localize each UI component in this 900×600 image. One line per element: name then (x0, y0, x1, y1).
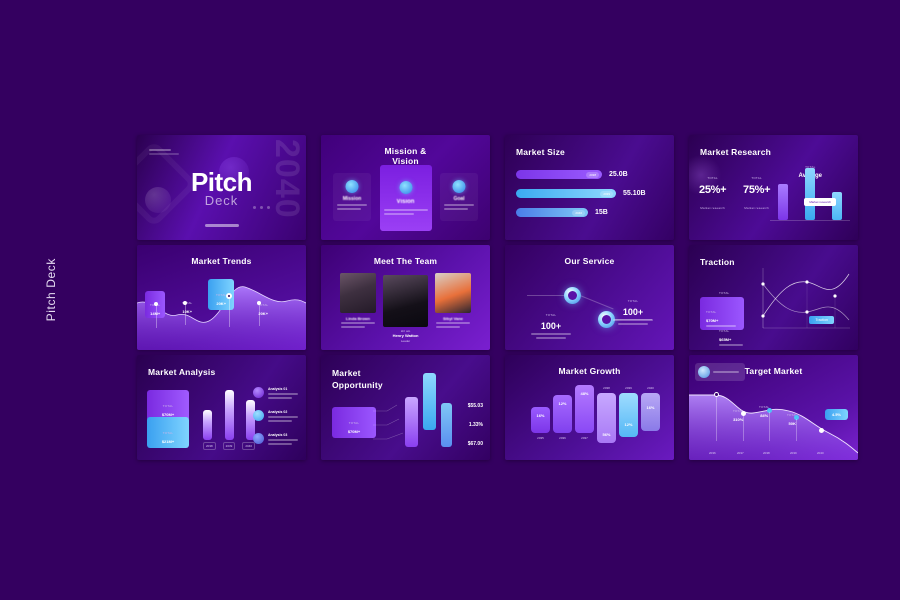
x-label: 2039 (223, 442, 236, 450)
data-point (183, 301, 187, 305)
item-title: Analysis 01 (268, 387, 298, 391)
slide-market-trends[interactable]: Market Trends TOTAL 14M+ TOTAL 10K+ TOTA… (137, 245, 306, 350)
bar-value: 12% (553, 401, 572, 406)
chip-caption: TOTAL (163, 431, 173, 435)
slide-title: Market Opportunity (332, 367, 383, 392)
bar-value: 12% (619, 422, 638, 427)
analysis-item[interactable]: Analysis 02 (253, 410, 298, 422)
stem (769, 412, 770, 441)
member-photo[interactable] (435, 273, 471, 313)
member-name: Linda Brown (333, 316, 383, 321)
traction-label: TOTAL $65M+ (719, 319, 743, 346)
chip-value: 10K+ (182, 309, 192, 314)
opportunity-chip: TOTAL $70M+ (332, 407, 376, 438)
card-desc (444, 204, 474, 210)
x-label: 2039 (619, 386, 638, 390)
label-caption: TOTAL (719, 329, 729, 333)
chart-tooltip: Market research (804, 198, 836, 206)
analysis-bar-chart (203, 385, 255, 440)
data-point (154, 302, 158, 306)
stat-caption: TOTAL (707, 176, 717, 180)
card-desc (384, 209, 428, 215)
card-label: Mission (333, 196, 371, 202)
cover-underline (205, 224, 239, 227)
slide-market-size[interactable]: Market Size 2038 25.0B 2039 55.10B 2040 … (505, 135, 674, 240)
growth-bar: 12% (553, 395, 572, 433)
progress-bar: 2038 (516, 170, 602, 179)
connector (527, 295, 567, 296)
trend-chip: TOTAL 10K+ (177, 289, 197, 316)
decor-dots (251, 196, 272, 214)
card-vision[interactable]: Vision (380, 165, 432, 231)
mission-icon (346, 180, 359, 193)
member-role (436, 322, 470, 328)
member-role (341, 322, 375, 328)
stem (743, 415, 744, 441)
label-caption: TOTAL (719, 291, 729, 295)
data-point (819, 428, 824, 433)
slide-title: Market Research (700, 147, 771, 157)
stem (796, 419, 797, 441)
slide-title: Market Trends (137, 256, 306, 266)
growth-bar: 12% (619, 393, 638, 437)
stem (716, 397, 717, 441)
data-point (257, 301, 261, 305)
bar-value: 16% (641, 405, 660, 410)
x-label: 2040 (817, 451, 824, 455)
stat-value: 100+ (613, 307, 653, 317)
cover-brand (149, 149, 179, 155)
leader-role: Leader (321, 339, 490, 343)
stat-value: 100+ (531, 321, 571, 331)
opportunity-values: $55.03 1.33% $67.00 (468, 403, 483, 460)
service-node[interactable] (564, 287, 581, 304)
slide-meet-the-team[interactable]: Meet The Team Linda Brown Sibyl Vane Hi … (321, 245, 490, 350)
chip-caption: TOTAL (349, 421, 359, 425)
card-mission[interactable]: Mission (333, 173, 371, 221)
stat-block: TOTAL 75%+ Market research (743, 166, 770, 214)
analysis-chip: TOTAL $21M+ (147, 417, 189, 448)
value-label: $55.03 (468, 403, 483, 409)
chart-tooltip: Traction (809, 316, 834, 324)
item-title: Analysis 03 (268, 433, 298, 437)
bar-value: 25.0B (609, 171, 628, 178)
stat-sub: Market research (700, 206, 725, 210)
stat-block: TOTAL 100+ (531, 303, 571, 339)
progress-bar: 2039 (516, 189, 616, 198)
leader-info: Hi I am Henry Watton Leader (321, 329, 490, 343)
x-label: 2040 (641, 386, 660, 390)
slide-market-research[interactable]: Market Research TOTAL 25%+ Market resear… (689, 135, 858, 240)
leader-photo[interactable] (383, 275, 428, 327)
vision-icon (399, 181, 412, 194)
stem (185, 303, 186, 325)
chip-value: 20K+ (216, 301, 226, 306)
stem (156, 304, 157, 328)
slide-title: Mission & Vision (321, 146, 490, 166)
item-bullet-icon (253, 410, 264, 421)
analysis-item[interactable]: Analysis 03 (253, 433, 298, 445)
bar-row: 2040 15B (516, 208, 608, 217)
bar-value: 56% (597, 432, 616, 437)
slide-title: Meet The Team (321, 256, 490, 266)
bar-pill: 2038 (586, 172, 599, 178)
stat-block: TOTAL 100+ (613, 289, 653, 325)
x-label: 2038 (203, 442, 216, 450)
stat-sub: Market research (744, 206, 769, 210)
title-line-1: Market (332, 368, 361, 378)
value-label: 1.33% (468, 422, 483, 428)
slide-pitch-deck-cover[interactable]: 2040 Pitch Deck (137, 135, 306, 240)
bar-value: 48% (575, 391, 594, 396)
opportunity-bar (405, 397, 418, 447)
card-label: Goal (440, 196, 478, 202)
x-label: 2039 (790, 451, 797, 455)
bar-value: 16% (531, 413, 550, 418)
card-desc (337, 204, 367, 210)
x-label: 2036 (709, 451, 716, 455)
slide-title: Traction (700, 257, 735, 267)
x-label: 2035 (531, 436, 550, 440)
item-bullet-icon (253, 387, 264, 398)
slide-title: Our Service (505, 256, 674, 266)
bar-value: 55.10B (623, 190, 646, 197)
target-chip: 4.5% (825, 409, 848, 420)
slide-market-analysis[interactable]: Market Analysis TOTAL $70M+ TOTAL $21M+ … (137, 355, 306, 460)
brand-line-1 (149, 149, 171, 151)
x-label: 2038 (763, 451, 770, 455)
chip-caption: TOTAL (163, 404, 173, 408)
goal-icon (453, 180, 466, 193)
growth-bar: 16% (531, 407, 550, 433)
stat-caption: TOTAL (628, 299, 638, 303)
label-value: $65M+ (719, 337, 743, 342)
card-label: Vision (380, 199, 432, 205)
slide-our-service[interactable]: Our Service TOTAL 100+ TOTAL 100+ (505, 245, 674, 350)
cover-subtitle: Deck (137, 193, 306, 208)
trend-chip: TOTAL 20K+ (253, 291, 273, 318)
avatar (698, 366, 710, 378)
opportunity-bar (441, 403, 452, 447)
bar-value: 15B (595, 209, 608, 216)
slide-market-growth[interactable]: Market Growth 16% 12% 48% 56% 12% 16% 20… (505, 355, 674, 460)
slide-market-opportunity[interactable]: Market Opportunity TOTAL $70M+ $55.03 1.… (321, 355, 490, 460)
progress-bar: 2040 (516, 208, 588, 217)
value-label: $67.00 (468, 441, 483, 447)
opportunity-bar (423, 373, 436, 430)
stat-value: 25%+ (699, 184, 726, 196)
growth-bar: 56% (597, 393, 616, 443)
chip-caption: TOTAL (216, 293, 226, 297)
target-top-chip[interactable] (695, 363, 745, 381)
photo-image (340, 273, 376, 313)
bar-row: 2039 55.10B (516, 189, 646, 198)
bar-axis-labels: 2038 2039 2040 (203, 442, 255, 450)
x-label: 2037 (737, 451, 744, 455)
chip-value: $70M+ (336, 429, 372, 434)
slide-title: Market Analysis (148, 367, 215, 377)
stat-value: 75%+ (743, 184, 770, 196)
title-line-1: Mission & (385, 146, 427, 156)
chart-axis (770, 220, 850, 221)
target-label: TOTAL 84% (759, 395, 769, 418)
photo-image (435, 273, 471, 313)
deck-side-label: Pitch Deck (44, 258, 58, 321)
analysis-item[interactable]: Analysis 01 (253, 387, 298, 399)
x-label: 2037 (575, 436, 594, 440)
chip-caption: TOTAL (706, 310, 716, 314)
title-line-2: Opportunity (332, 380, 383, 390)
slide-mission-vision[interactable]: Mission & Vision Mission Vision Goal (321, 135, 490, 240)
bar-row: 2038 25.0B (516, 170, 628, 179)
slide-traction[interactable]: Traction TOTAL $20M+ TOTAL $70M+ TOTAL $… (689, 245, 858, 350)
stat-block: TOTAL 25%+ Market research (699, 166, 726, 214)
stat-caption: TOTAL (751, 176, 761, 180)
slide-title: Market Growth (505, 366, 674, 376)
member-name: Sibyl Vane (428, 316, 478, 321)
card-goal[interactable]: Goal (440, 173, 478, 221)
photo-image (383, 275, 428, 327)
brand-line-2 (149, 153, 179, 155)
x-label: 2036 (553, 436, 572, 440)
slide-grid: 2040 Pitch Deck Mission & Vision Mission… (137, 135, 859, 460)
growth-bar: 48% (575, 385, 594, 433)
top-chip-label (713, 371, 739, 373)
stem (229, 297, 230, 327)
label-value: 84% (759, 413, 769, 418)
chip-value: $21M+ (151, 439, 185, 444)
growth-bar: 16% (641, 393, 660, 431)
label-value: 310% (733, 417, 743, 422)
research-bar-chart (770, 165, 850, 220)
traction-line-chart (755, 268, 850, 336)
item-title: Analysis 02 (268, 410, 298, 414)
bar-pill: 2040 (572, 210, 585, 216)
slide-target-market[interactable]: Target Market TOTAL 310% TOTAL 84% TOTAL… (689, 355, 858, 460)
item-bullet-icon (253, 433, 264, 444)
x-label: 2038 (597, 386, 616, 390)
stat-caption: TOTAL (546, 313, 556, 317)
slide-title: Market Size (516, 147, 565, 157)
stem (259, 303, 260, 326)
bar-pill: 2039 (600, 191, 613, 197)
member-photo[interactable] (340, 273, 376, 313)
data-point-active (226, 293, 232, 299)
connector (580, 295, 614, 309)
